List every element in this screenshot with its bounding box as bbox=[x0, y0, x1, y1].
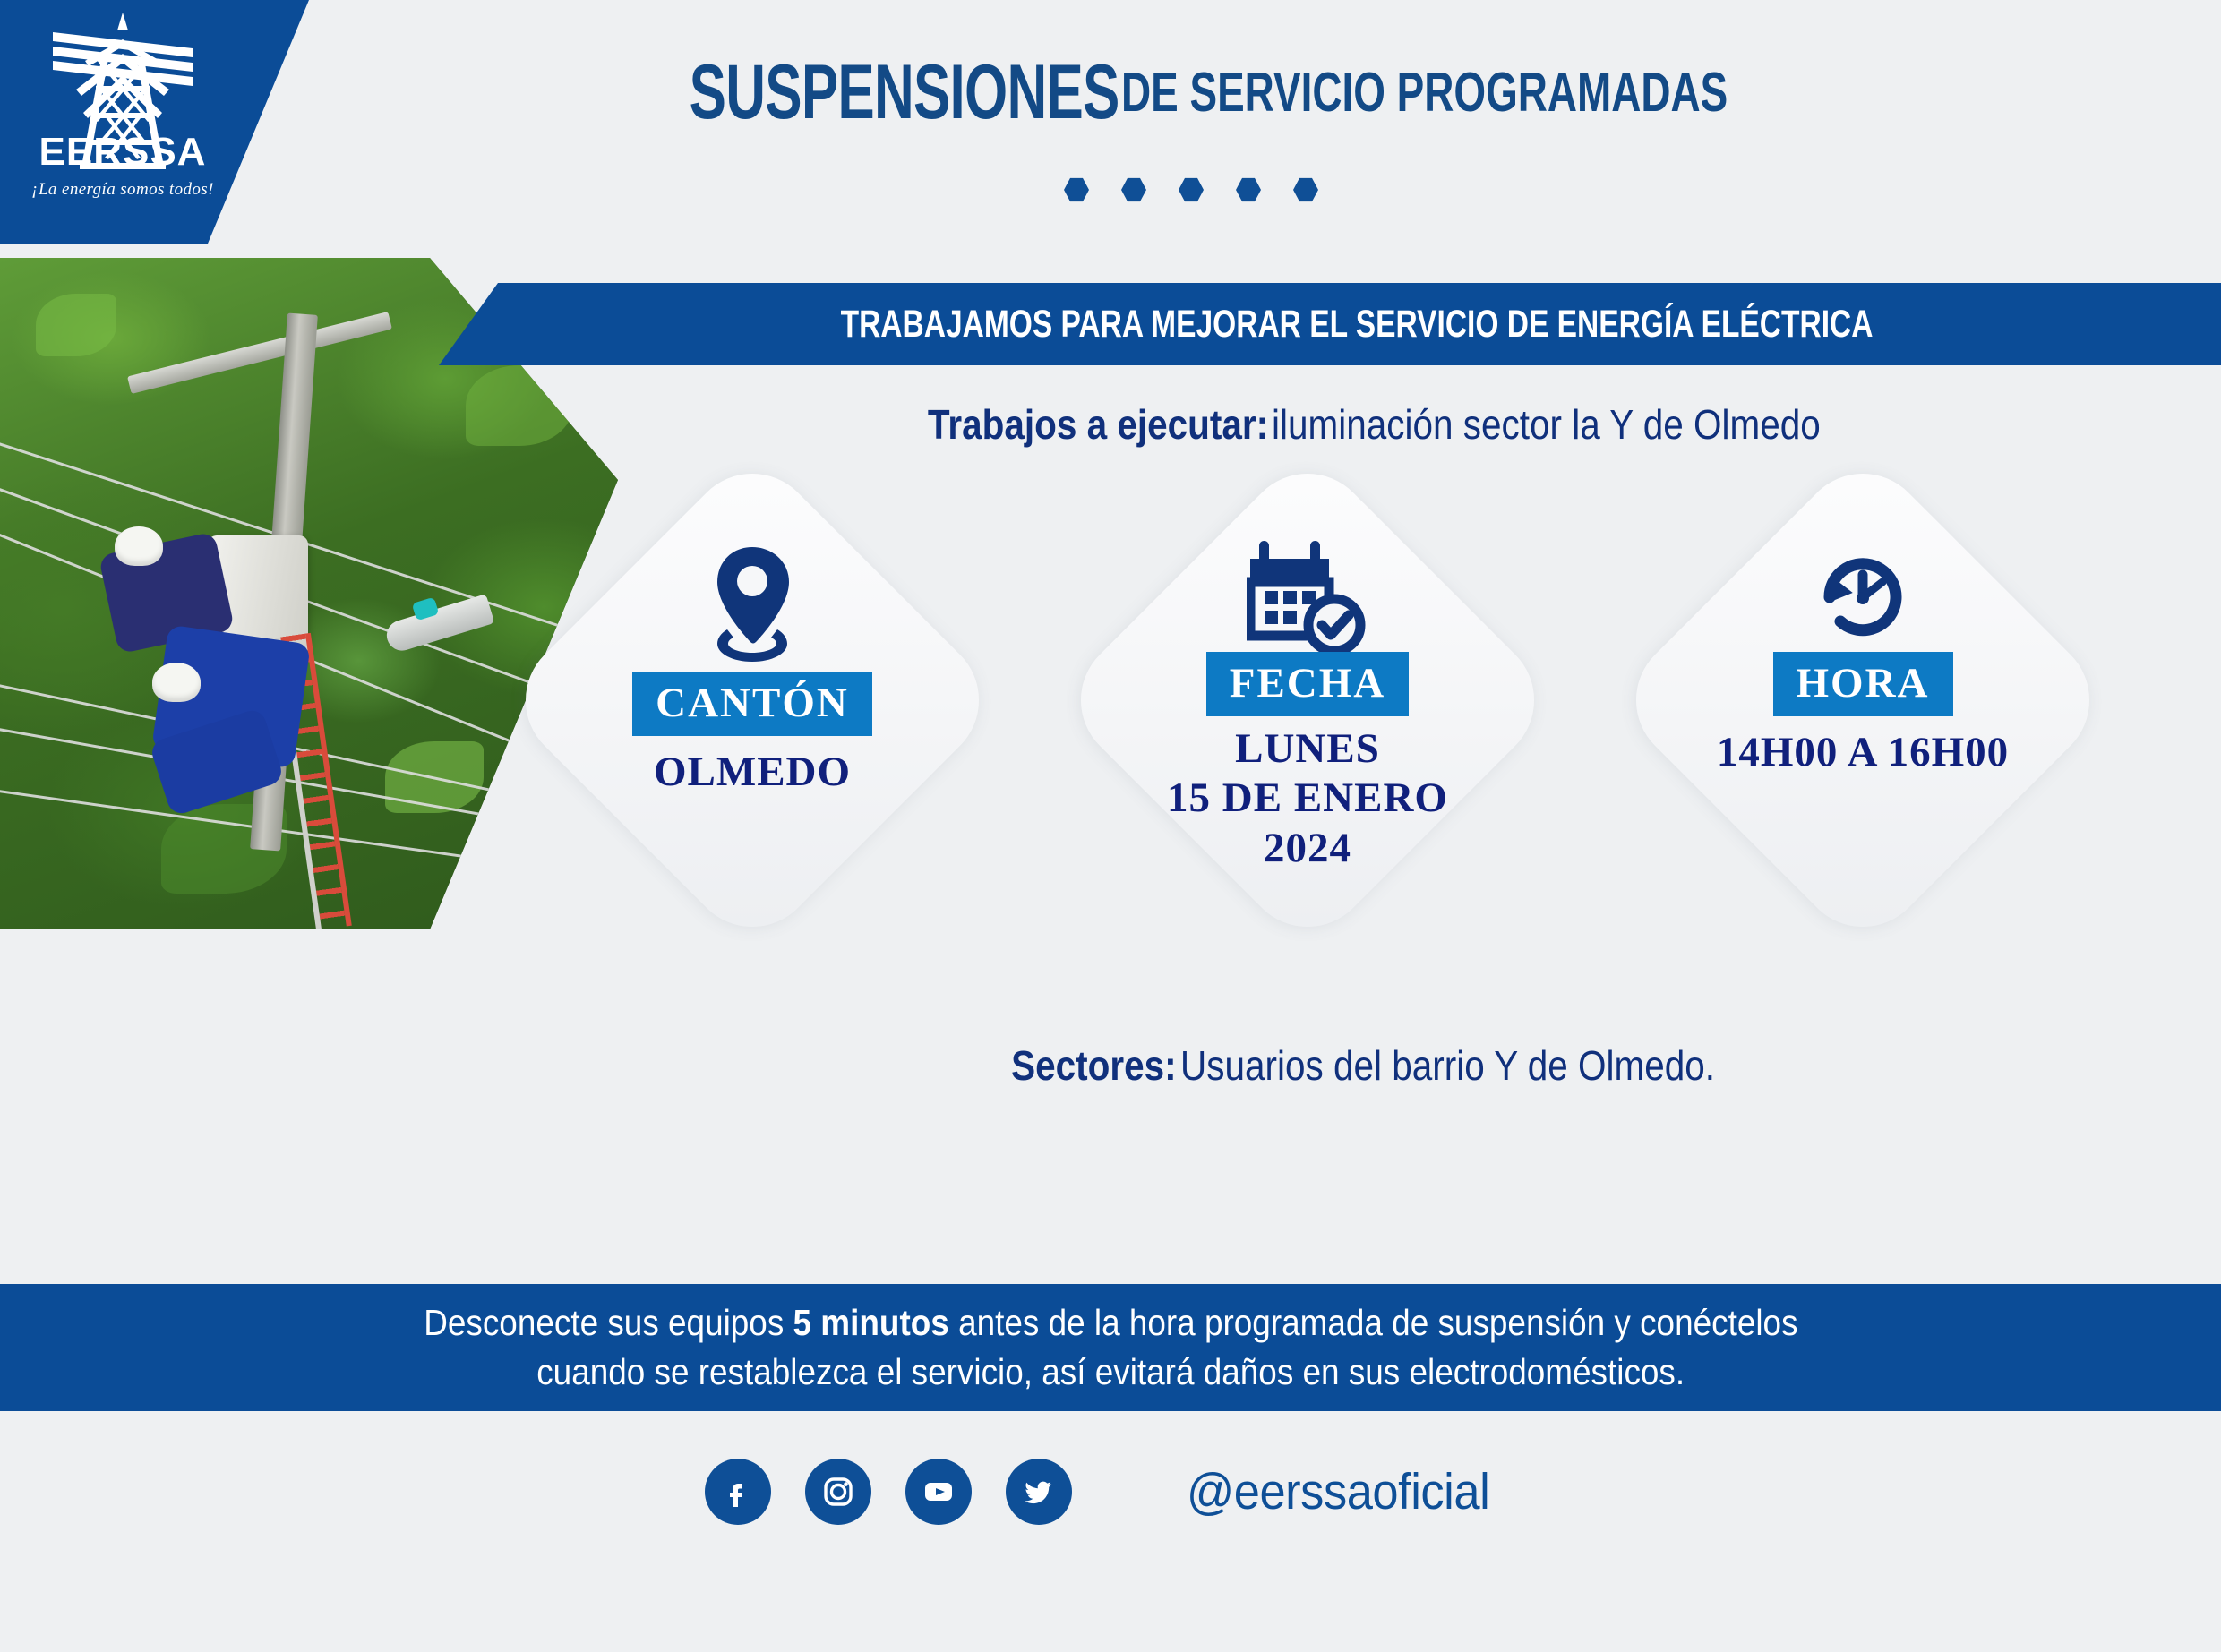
card-value-canton: OLMEDO bbox=[654, 748, 851, 797]
logo-slogan: ¡La energía somos todos! bbox=[31, 180, 214, 200]
notice-line-1c: antes de la hora programada de suspensió… bbox=[948, 1302, 1797, 1343]
notice-line-1: Desconecte sus equipos 5 minutos antes d… bbox=[424, 1298, 1797, 1348]
youtube-icon[interactable] bbox=[905, 1459, 972, 1525]
logo-badge: EERSSA ¡La energía somos todos! bbox=[0, 0, 309, 244]
section-banner: TRABAJAMOS PARA MEJORAR EL SERVICIO DE E… bbox=[439, 283, 2221, 365]
title-sub: DE SERVICIO PROGRAMADAS bbox=[1121, 61, 1728, 124]
notice-highlight: 5 minutos bbox=[793, 1302, 948, 1343]
title-dot-divider bbox=[0, 177, 2221, 202]
card-value-fecha: LUNES 15 DE ENERO 2024 bbox=[1167, 724, 1448, 873]
sectors-label: Sectores: bbox=[1011, 1041, 1176, 1090]
social-links bbox=[705, 1459, 1072, 1525]
notice-line-1a: Desconecte sus equipos bbox=[424, 1302, 793, 1343]
works-line: Trabajos a ejecutar: iluminación sector … bbox=[618, 392, 2158, 457]
photo-foliage bbox=[466, 365, 573, 446]
card-tag-hora: HORA bbox=[1773, 652, 1953, 716]
card-value-fecha-line: 15 DE ENERO bbox=[1167, 774, 1448, 823]
section-banner-text: TRABAJAMOS PARA MEJORAR EL SERVICIO DE E… bbox=[841, 303, 1874, 347]
info-card-hora: HORA 14H00 A 16H00 bbox=[1648, 501, 2078, 1003]
info-card-canton: CANTÓN OLMEDO bbox=[537, 501, 967, 1003]
notice-line-2: cuando se restablezca el servicio, así e… bbox=[536, 1348, 1685, 1397]
works-label: Trabajos a ejecutar: bbox=[928, 400, 1268, 449]
hex-dot-icon bbox=[1179, 177, 1204, 202]
photo-foliage bbox=[36, 294, 116, 356]
works-value: iluminación sector la Y de Olmedo bbox=[1272, 400, 1821, 449]
footer-social-bar: @eerssaoficial bbox=[0, 1429, 2221, 1554]
social-handle: @eerssaoficial bbox=[1187, 1462, 1489, 1521]
twitter-icon[interactable] bbox=[1006, 1459, 1072, 1525]
location-pin-icon bbox=[699, 518, 805, 688]
title-main: SUSPENSIONES bbox=[690, 48, 1119, 137]
photo-worker-helmet bbox=[115, 526, 163, 566]
card-value-hora: 14H00 A 16H00 bbox=[1717, 728, 2009, 777]
photo-worker-helmet bbox=[152, 663, 201, 702]
logo-wordmark: EERSSA bbox=[39, 133, 207, 172]
card-value-fecha-line: LUNES bbox=[1167, 724, 1448, 774]
info-card-fecha: FECHA LUNES 15 DE ENERO 2024 bbox=[1093, 501, 1522, 1003]
notice-banner: Desconecte sus equipos 5 minutos antes d… bbox=[0, 1284, 2221, 1411]
logo-inner: EERSSA ¡La energía somos todos! bbox=[20, 7, 226, 236]
page-title: SUSPENSIONES DE SERVICIO PROGRAMADAS bbox=[309, 43, 2154, 141]
hex-dot-icon bbox=[1236, 177, 1261, 202]
card-tag-fecha: FECHA bbox=[1206, 652, 1410, 716]
hex-dot-icon bbox=[1064, 177, 1089, 202]
hex-dot-icon bbox=[1121, 177, 1146, 202]
sectors-value: Usuarios del barrio Y de Olmedo. bbox=[1180, 1041, 1715, 1090]
sectors-line: Sectores: Usuarios del barrio Y de Olmed… bbox=[618, 1031, 2158, 1100]
hex-dot-icon bbox=[1293, 177, 1318, 202]
info-cards: CANTÓN OLMEDO bbox=[537, 501, 2114, 1039]
card-tag-canton: CANTÓN bbox=[632, 672, 872, 736]
facebook-icon[interactable] bbox=[705, 1459, 771, 1525]
card-value-fecha-line: 2024 bbox=[1167, 824, 1448, 873]
instagram-icon[interactable] bbox=[805, 1459, 871, 1525]
